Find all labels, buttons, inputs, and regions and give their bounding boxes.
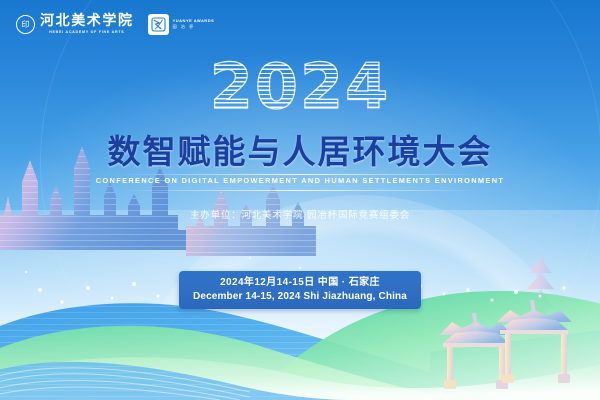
academy-seal-icon: 印 bbox=[16, 15, 35, 34]
logo-yuanye-awards[interactable]: YUANYE AWARDS 园 冶 杯 bbox=[148, 14, 215, 35]
conference-poster: 印 河北美术学院 HEBEI ACADEMY OF FINE ARTS YUAN… bbox=[0, 0, 600, 400]
yuanye-name-cn: 园 冶 杯 bbox=[173, 25, 215, 30]
yuanye-mark-icon bbox=[148, 14, 169, 35]
date-location-cn: 2024年12月14-15日 中国 · 石家庄 bbox=[193, 276, 407, 290]
title-divider-bottom bbox=[120, 190, 480, 191]
academy-name-cn: 河北美术学院 bbox=[40, 15, 134, 30]
date-location-badge: 2024年12月14-15日 中国 · 石家庄 December 14-15, … bbox=[179, 271, 421, 309]
title-divider-top bbox=[120, 174, 480, 175]
date-location-en: December 14-15, 2024 Shi Jiazhuang, Chin… bbox=[193, 290, 407, 304]
academy-name-en: HEBEI ACADEMY OF FINE ARTS bbox=[40, 30, 134, 34]
page-title-en: CONFERENCE ON DIGITAL EMPOWERMENT AND HU… bbox=[0, 176, 600, 185]
year-heading: 2024 bbox=[0, 56, 600, 118]
organizer-line: 主办单位：河北美术学院 园冶杯国际竞赛组委会 bbox=[0, 207, 600, 221]
logo-hebei-academy[interactable]: 印 河北美术学院 HEBEI ACADEMY OF FINE ARTS bbox=[16, 15, 134, 35]
page-title-cn: 数智赋能与人居环境大会 bbox=[0, 125, 600, 173]
academy-seal-glyph: 印 bbox=[22, 21, 30, 29]
header-logos: 印 河北美术学院 HEBEI ACADEMY OF FINE ARTS YUAN… bbox=[16, 14, 214, 35]
